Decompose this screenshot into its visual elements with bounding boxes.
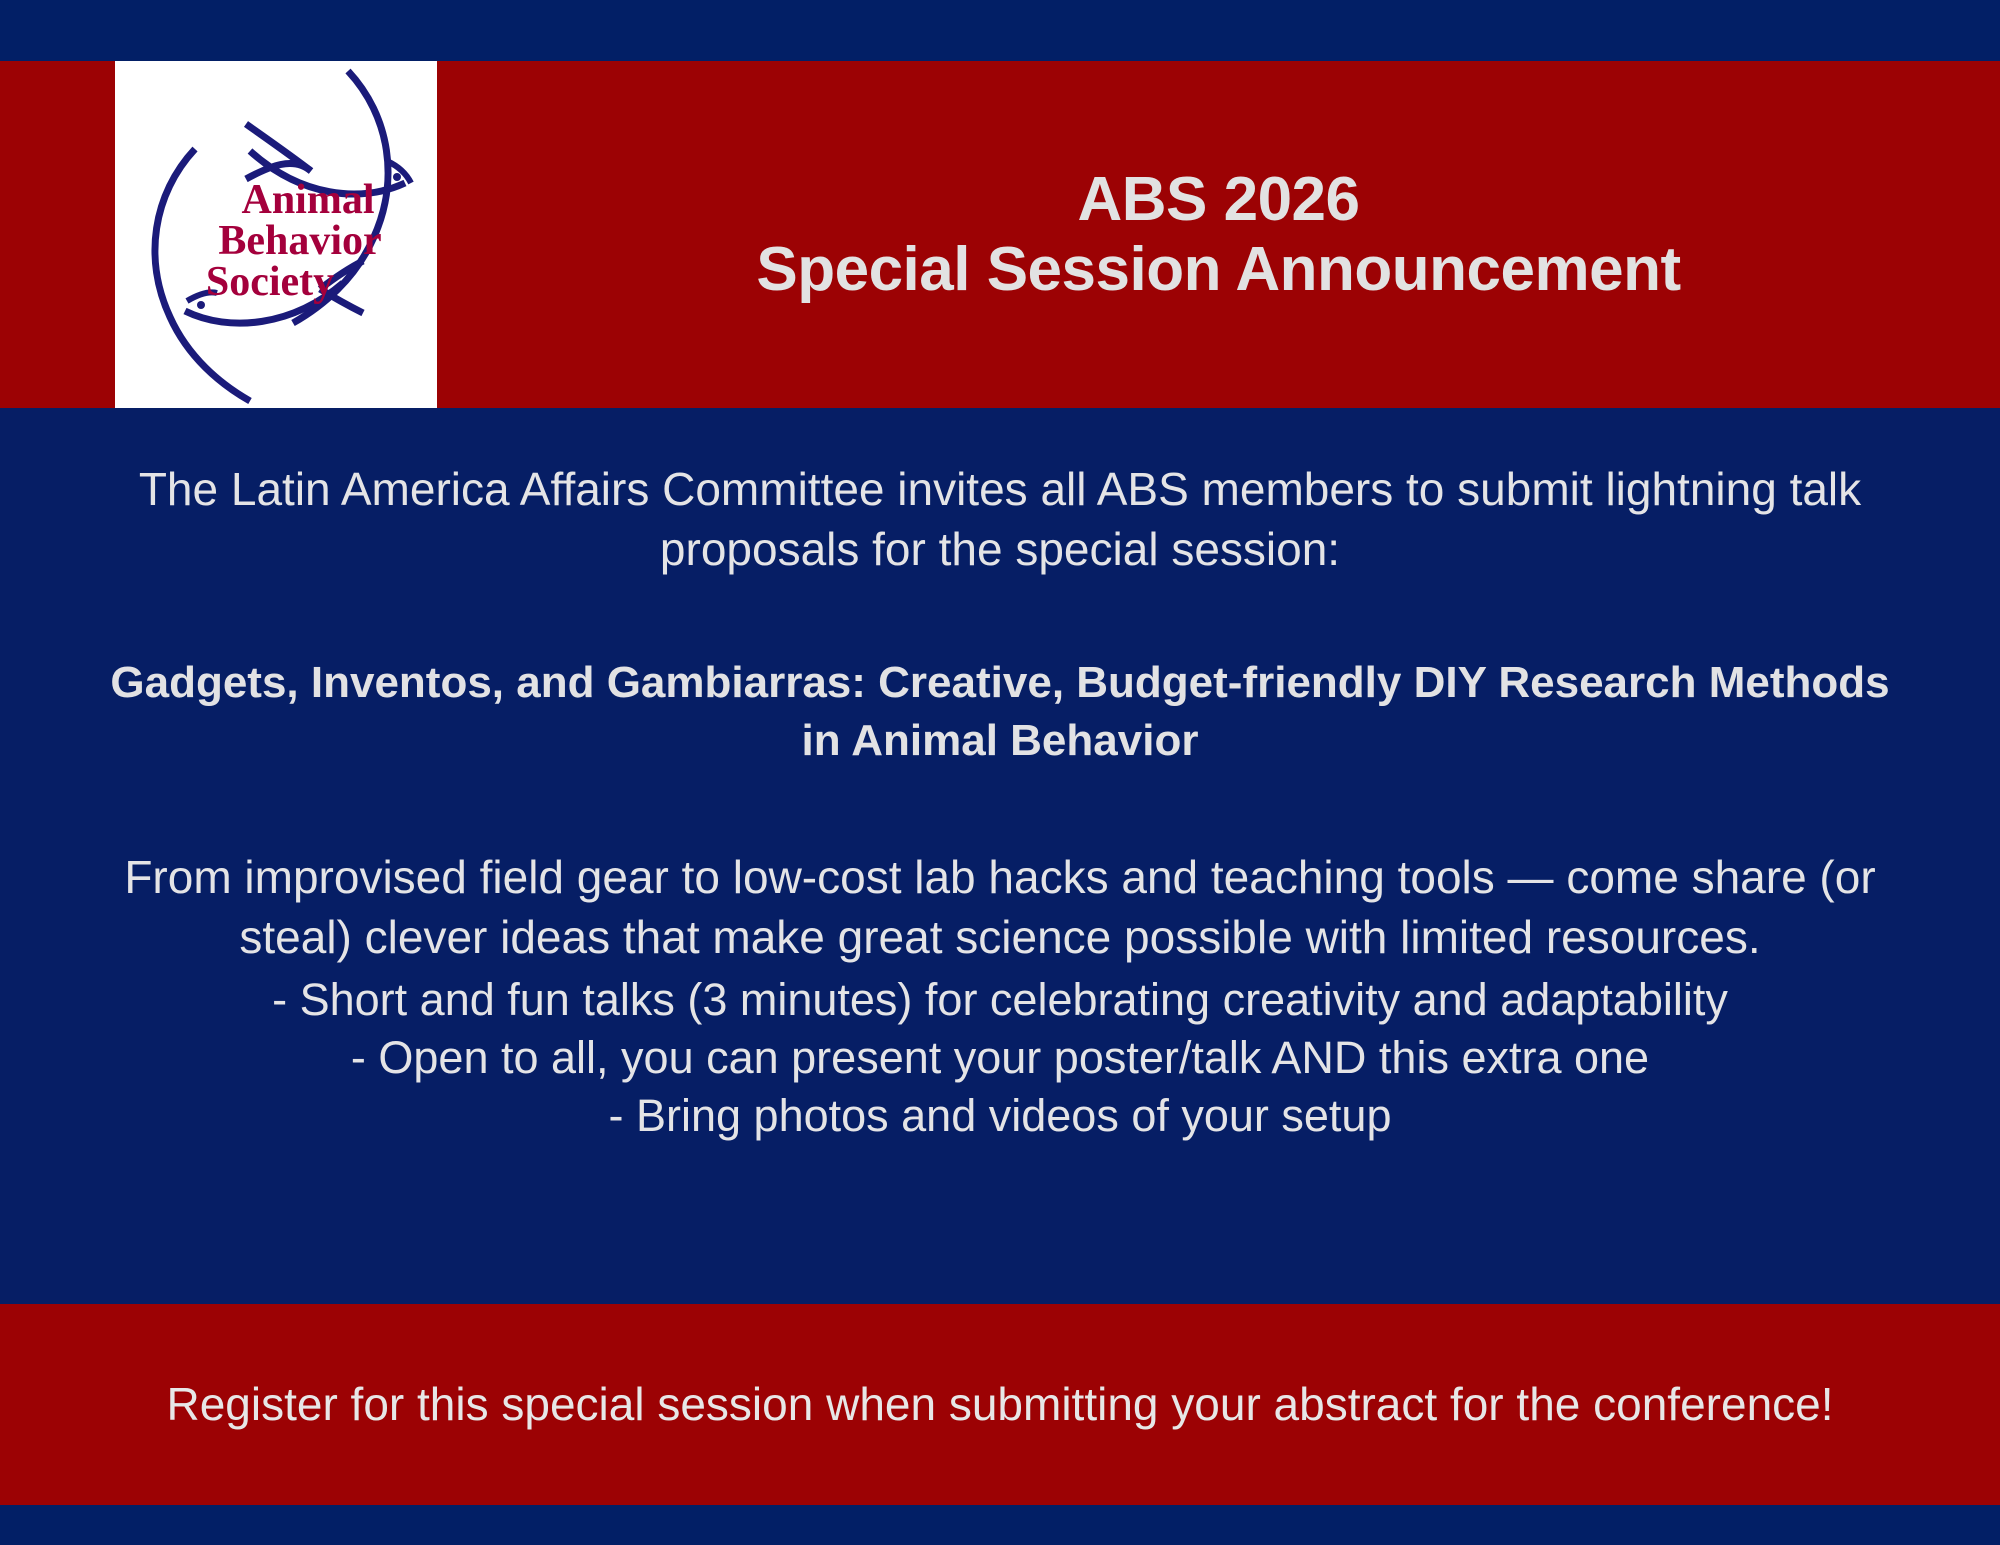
abs-logo: Animal Behavior Society xyxy=(115,61,437,408)
footer-red-band: Register for this special session when s… xyxy=(0,1304,2000,1505)
announcement-body: The Latin America Affairs Committee invi… xyxy=(0,408,2000,1304)
session-description: From improvised field gear to low-cost l… xyxy=(95,770,1905,968)
header-title-year: ABS 2026 xyxy=(1077,165,1359,234)
list-item: - Bring photos and videos of your setup xyxy=(95,1087,1905,1145)
list-item: - Open to all, you can present your post… xyxy=(95,1029,1905,1087)
logo-text-line3: Society xyxy=(206,259,334,305)
detail-list: - Short and fun talks (3 minutes) for ce… xyxy=(95,967,1905,1144)
header-title-subtitle: Special Session Announcement xyxy=(756,235,1680,304)
announcement-poster: Animal Behavior Society ABS 2026 Special… xyxy=(0,0,2000,1545)
abs-logo-graphic: Animal Behavior Society xyxy=(115,61,437,408)
logo-text-line2: Behavior xyxy=(218,218,381,264)
bottom-navy-strip xyxy=(0,1505,2000,1545)
registration-callout: Register for this special session when s… xyxy=(166,1374,1833,1435)
session-title: Gadgets, Inventos, and Gambiarras: Creat… xyxy=(95,580,1905,770)
top-navy-strip xyxy=(0,0,2000,61)
header-title-block: ABS 2026 Special Session Announcement xyxy=(437,61,2000,408)
intro-paragraph: The Latin America Affairs Committee invi… xyxy=(95,408,1905,580)
logo-text-line1: Animal xyxy=(241,177,374,223)
list-item: - Short and fun talks (3 minutes) for ce… xyxy=(95,971,1905,1029)
